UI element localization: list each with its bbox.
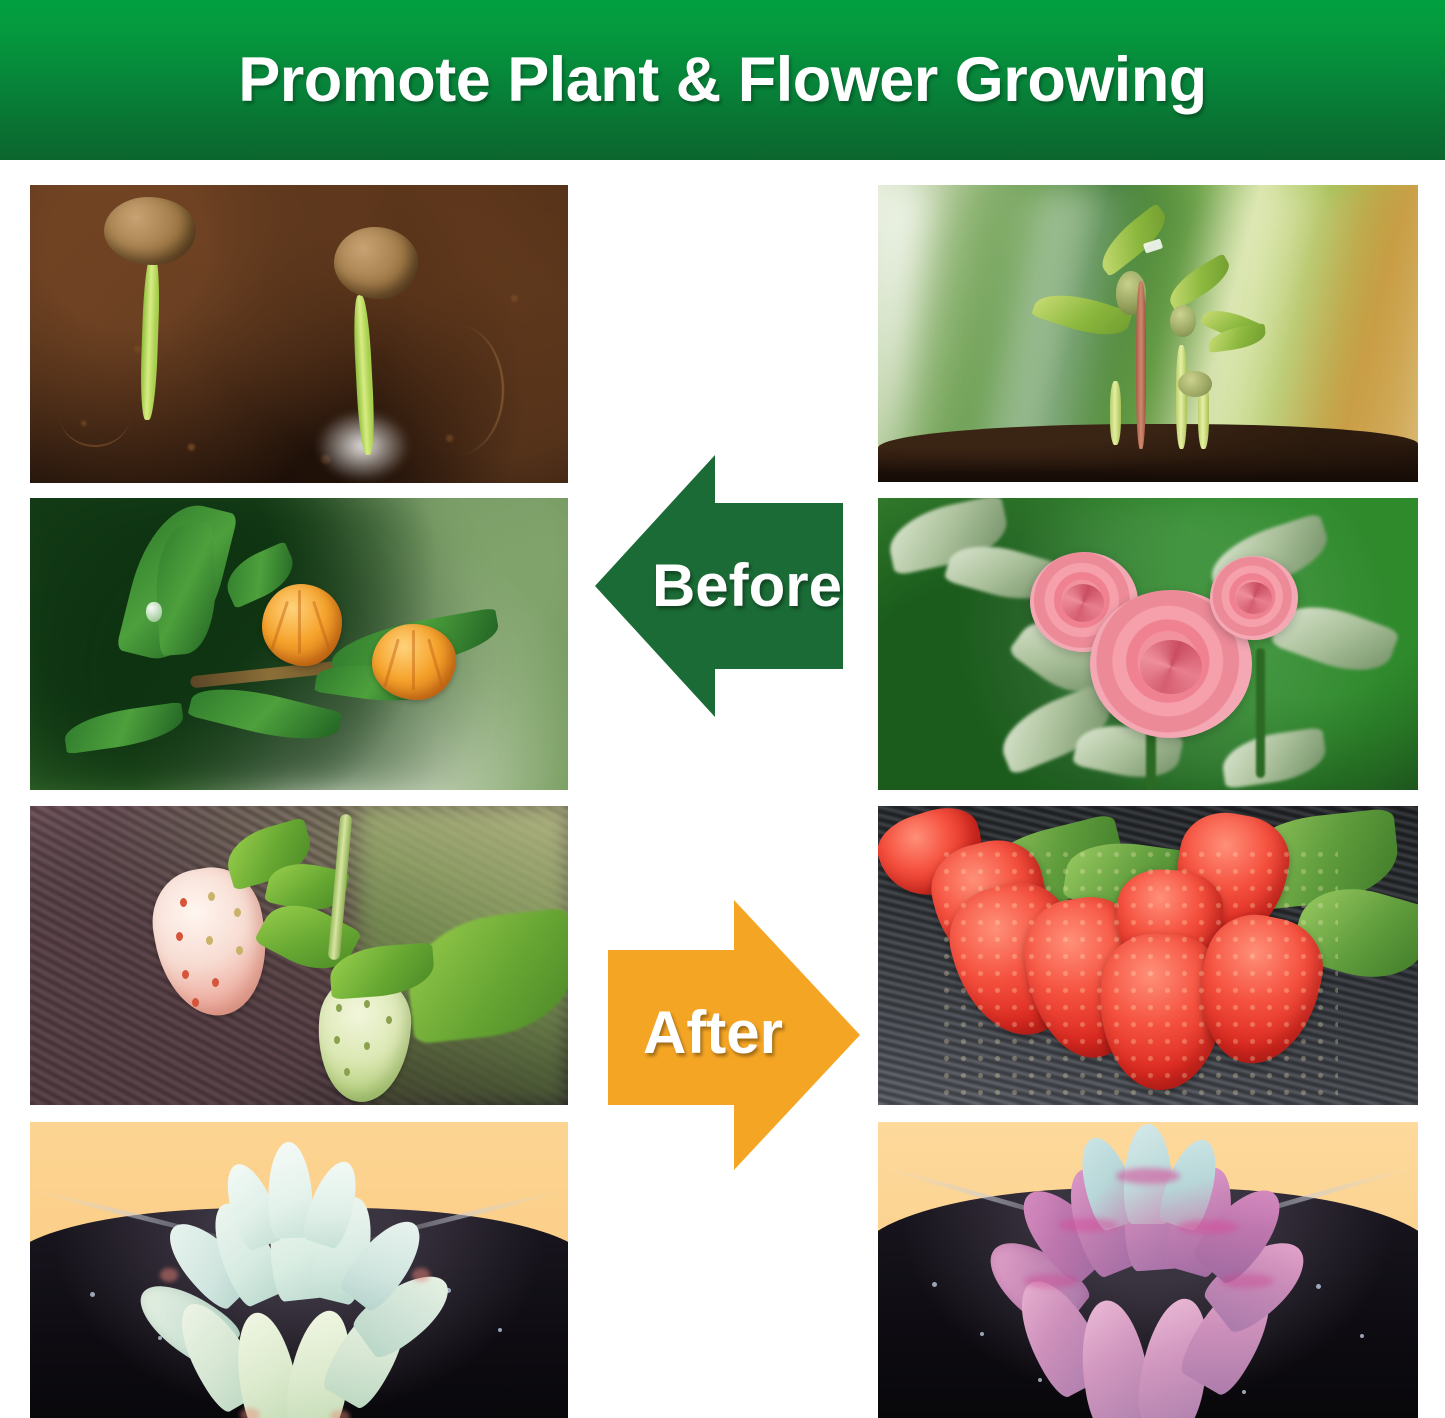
after-arrow-label: After xyxy=(618,998,808,1067)
before-arrow: Before xyxy=(595,455,843,717)
photo-purple-pink-succulent xyxy=(878,1122,1418,1418)
photo-unripe-strawberries xyxy=(30,806,568,1105)
infographic-page: Promote Plant & Flower Growing xyxy=(0,0,1445,1418)
photo-ripe-red-strawberries xyxy=(878,806,1418,1105)
photo-pale-green-succulent xyxy=(30,1122,568,1418)
header-banner: Promote Plant & Flower Growing xyxy=(0,0,1445,160)
after-arrow: After xyxy=(608,900,860,1170)
photo-orange-flower-buds xyxy=(30,498,568,790)
page-title: Promote Plant & Flower Growing xyxy=(0,0,1445,160)
photo-bean-seedlings-growing xyxy=(878,185,1418,482)
photo-pink-roses-bloom xyxy=(878,498,1418,790)
photo-seed-sprouts-in-soil xyxy=(30,185,568,483)
before-arrow-label: Before xyxy=(651,551,843,620)
